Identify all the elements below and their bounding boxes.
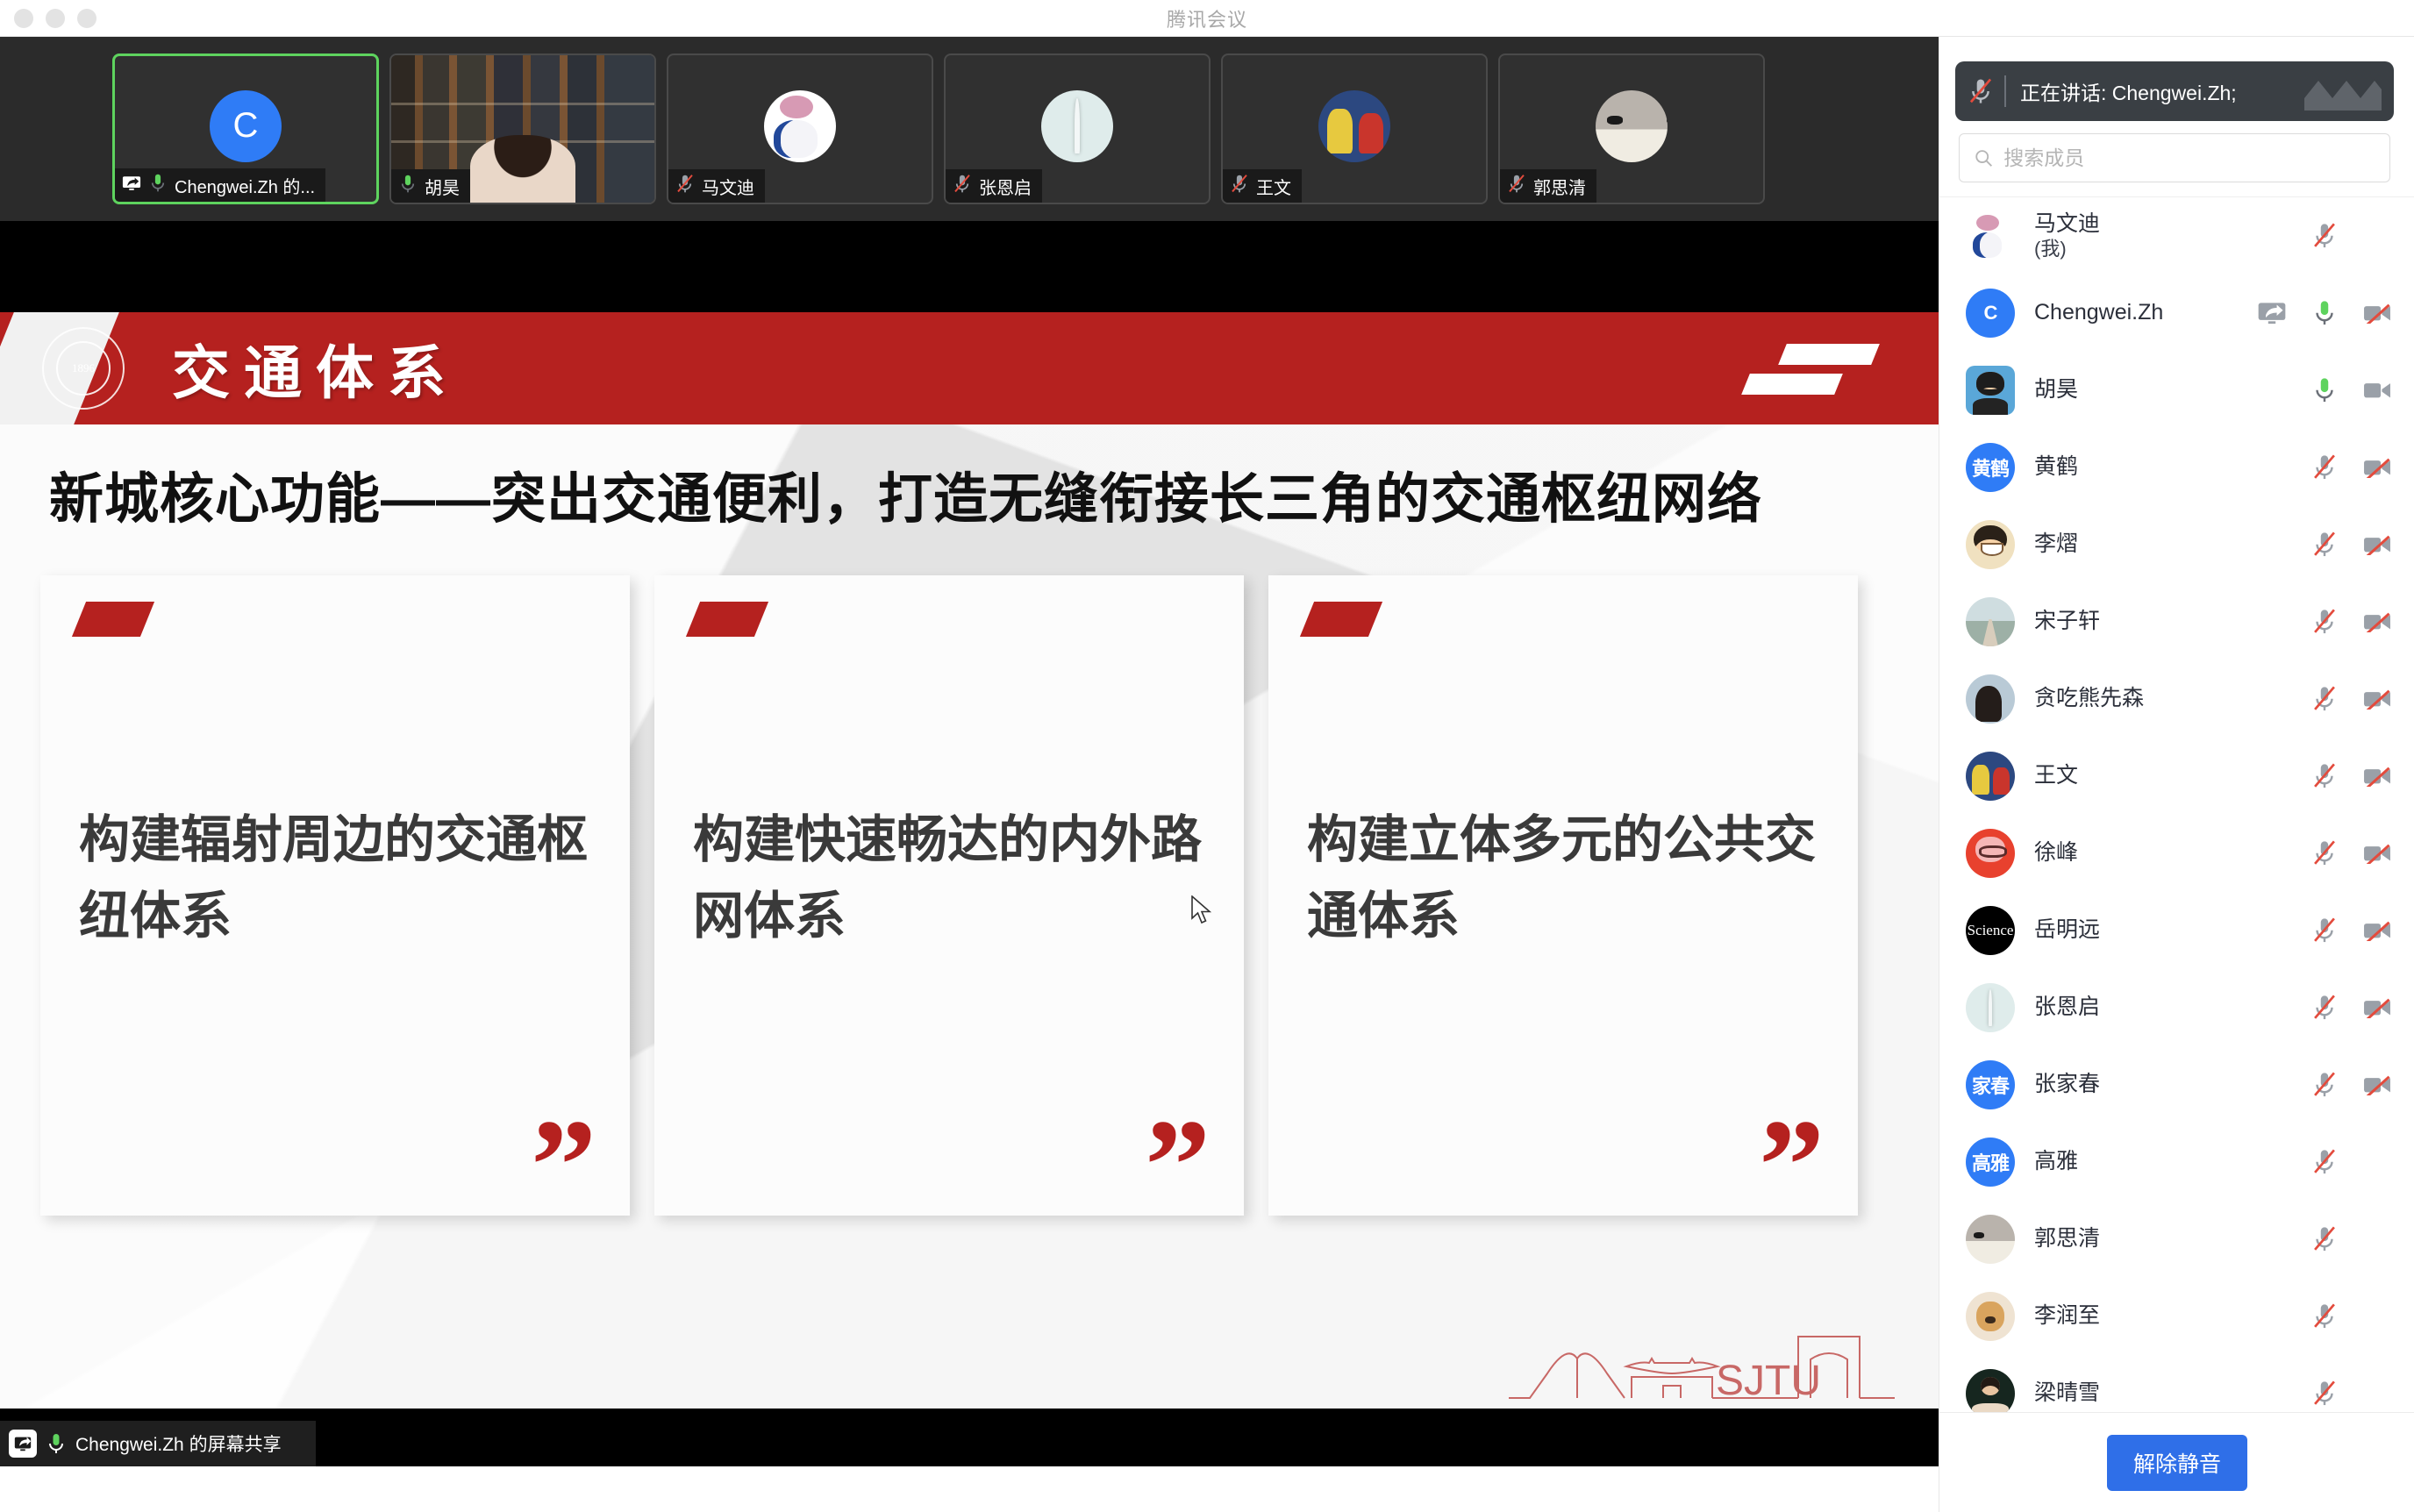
microphone-muted-icon[interactable] [953, 174, 972, 194]
mic-status-slot[interactable] [2310, 916, 2339, 945]
share-status-slot [2257, 993, 2287, 1023]
card-text: 构建辐射周边的交通枢纽体系 [79, 802, 588, 954]
avatar [1966, 1292, 2015, 1341]
share-status-slot [2257, 298, 2287, 328]
participant-name-block: 李熠 [2034, 531, 2238, 558]
participant-name: 梁晴雪 [2034, 1380, 2238, 1407]
share-status-slot [2257, 1302, 2287, 1331]
avatar [1966, 983, 2015, 1032]
camera-status-slot[interactable] [2362, 298, 2392, 328]
share-status-slot [2257, 1070, 2287, 1100]
share-status-slot [2257, 761, 2287, 791]
slide-card-1: 构建辐射周边的交通枢纽体系” [40, 575, 630, 1216]
participant-name-block: 贪吃熊先森 [2034, 686, 2238, 712]
share-status-slot [2257, 1224, 2287, 1254]
participant-row[interactable]: 高雅高雅 [1939, 1123, 2414, 1201]
participant-row[interactable]: 徐峰 [1939, 815, 2414, 892]
avatar [1966, 597, 2015, 646]
participant-name: 徐峰 [2034, 840, 2238, 867]
camera-off-icon[interactable] [2362, 766, 2392, 787]
participant-row[interactable]: 王文 [1939, 738, 2414, 815]
camera-off-icon[interactable] [2362, 534, 2392, 555]
microphone-muted-icon[interactable] [2311, 839, 2338, 867]
microphone-muted-icon[interactable] [2311, 994, 2338, 1022]
tile-participant-name: 张恩启 [979, 174, 1032, 199]
camera-status-slot[interactable] [2362, 453, 2392, 482]
participant-status-icons [2257, 375, 2392, 405]
tile-namebar: 胡昊 [391, 169, 470, 203]
participant-status-icons [2257, 993, 2392, 1023]
camera-status-slot[interactable] [2362, 607, 2392, 637]
avatar [1966, 1215, 2015, 1264]
participant-name: 王文 [2034, 763, 2238, 789]
slide-subtitle: 新城核心功能——突出交通便利，打造无缝衔接长三角的交通枢纽网络 [49, 454, 1874, 533]
share-status-slot [2257, 530, 2287, 560]
screen-share-icon[interactable] [2257, 302, 2287, 325]
microphone-on-icon[interactable] [2311, 299, 2338, 327]
mic-status-slot[interactable] [2310, 298, 2339, 328]
microphone-on-icon [46, 1432, 67, 1455]
share-status-slot [2257, 838, 2287, 868]
participant-status-icons [2257, 1302, 2392, 1331]
audio-wave-icon [2301, 72, 2382, 111]
camera-status-slot[interactable] [2362, 838, 2392, 868]
share-status-slot [2257, 221, 2287, 251]
tile-namebar: Chengwei.Zh 的... [115, 168, 325, 202]
mic-status-slot[interactable] [2310, 530, 2339, 560]
slide-card-3: 构建立体多元的公共交通体系” [1268, 575, 1858, 1216]
participant-name: 李润至 [2034, 1303, 2238, 1330]
mic-status-slot[interactable] [2310, 684, 2339, 714]
participant-status-icons [2257, 684, 2392, 714]
participant-name: 岳明远 [2034, 917, 2238, 944]
share-status-bar: Chengwei.Zh 的屏幕共享 [0, 1421, 316, 1466]
microphone-muted-icon[interactable] [2311, 531, 2338, 559]
toast-divider [2004, 75, 2006, 107]
microphone-muted-icon[interactable] [2311, 762, 2338, 790]
participant-status-icons [2257, 298, 2392, 328]
tile-namebar: 马文迪 [668, 169, 765, 203]
participant-sublabel: (我) [2034, 238, 2238, 260]
microphone-muted-icon[interactable] [2311, 608, 2338, 636]
participant-row[interactable]: 梁晴雪 [1939, 1355, 2414, 1412]
tile-participant-name: 胡昊 [425, 174, 460, 199]
card-red-mark-icon [686, 602, 768, 637]
microphone-on-icon[interactable] [398, 174, 418, 194]
tile-participant-name: Chengwei.Zh 的... [175, 173, 315, 198]
card-quote-glyph: ” [1145, 1130, 1211, 1202]
card-red-mark-icon [72, 602, 154, 637]
mic-status-slot[interactable] [2310, 1147, 2339, 1177]
tile-mic-icon [148, 173, 168, 197]
video-tile-3[interactable]: 马文迪 [667, 53, 933, 204]
participant-name: 马文迪 [2034, 211, 2238, 238]
camera-off-icon[interactable] [2362, 303, 2392, 324]
participant-name: 宋子轩 [2034, 609, 2238, 635]
avatar: C [210, 90, 282, 162]
avatar: Science [1966, 906, 2015, 955]
participant-row[interactable]: Science岳明远 [1939, 892, 2414, 969]
participant-status-icons [2257, 761, 2392, 791]
participant-row[interactable]: 贪吃熊先森 [1939, 660, 2414, 738]
participant-name-block: 徐峰 [2034, 840, 2238, 867]
card-text: 构建立体多元的公共交通体系 [1307, 802, 1816, 954]
avatar: C [1966, 289, 2015, 338]
card-quote-glyph: ” [1759, 1130, 1825, 1202]
camera-off-icon[interactable] [2362, 457, 2392, 478]
mic-status-slot[interactable] [2310, 375, 2339, 405]
tile-mic-icon [1507, 174, 1526, 198]
participant-name-block: 张恩启 [2034, 995, 2238, 1021]
slide-card-group: 构建辐射周边的交通枢纽体系”构建快速畅达的内外路网体系”构建立体多元的公共交通体… [40, 575, 1858, 1216]
participant-name: 高雅 [2034, 1149, 2238, 1175]
microphone-muted-icon [1968, 77, 1994, 105]
participant-status-icons [2257, 1224, 2392, 1254]
camera-status-slot[interactable] [2362, 1070, 2392, 1100]
tile-mic-icon [675, 174, 695, 198]
slide-header-banner: 1896 交通体系 [0, 312, 1939, 424]
share-status-slot [2257, 916, 2287, 945]
camera-off-icon[interactable] [2362, 843, 2392, 864]
participant-row[interactable]: CChengwei.Zh [1939, 275, 2414, 352]
camera-status-slot[interactable] [2362, 1302, 2392, 1331]
microphone-muted-icon[interactable] [2311, 1380, 2338, 1408]
participant-name-block: 李润至 [2034, 1303, 2238, 1330]
banner-stripe-decoration [1746, 344, 1875, 395]
participant-name: 张恩启 [2034, 995, 2238, 1021]
video-tile-1[interactable]: CChengwei.Zh 的... [112, 53, 379, 204]
participant-name-block: 胡昊 [2034, 377, 2238, 403]
mic-status-slot[interactable] [2310, 993, 2339, 1023]
speaking-now-text: 正在讲话: Chengwei.Zh; [2020, 76, 2237, 106]
camera-status-slot[interactable] [2362, 221, 2392, 251]
participant-status-icons [2257, 838, 2392, 868]
avatar [1966, 520, 2015, 569]
mic-status-slot[interactable] [2310, 607, 2339, 637]
card-text: 构建快速畅达的内外路网体系 [693, 802, 1202, 954]
participant-name: 黄鹤 [2034, 454, 2238, 481]
mic-status-slot[interactable] [2310, 1302, 2339, 1331]
sjtu-seal-year: 1896 [56, 341, 111, 396]
tile-namebar: 郭思清 [1500, 169, 1596, 203]
mic-status-slot[interactable] [2310, 221, 2339, 251]
speaking-now-toast: 正在讲话: Chengwei.Zh; [1955, 61, 2394, 121]
camera-status-slot[interactable] [2362, 1379, 2392, 1409]
participant-status-icons [2257, 1070, 2392, 1100]
tile-participant-name: 王文 [1256, 174, 1291, 199]
video-tile-4[interactable]: 张恩启 [944, 53, 1211, 204]
avatar [764, 90, 836, 162]
sjtu-skyline-logo-icon: SJTU [1509, 1310, 1895, 1403]
microphone-muted-icon[interactable] [2311, 1302, 2338, 1330]
search-box[interactable] [1959, 133, 2390, 182]
camera-on-icon[interactable] [2362, 380, 2392, 401]
tile-namebar: 王文 [1223, 169, 1302, 203]
slide-card-2: 构建快速畅达的内外路网体系” [654, 575, 1244, 1216]
avatar [1966, 674, 2015, 724]
microphone-muted-icon[interactable] [1507, 174, 1526, 194]
share-status-slot [2257, 1147, 2287, 1177]
shared-screen-area: 1896 交通体系 新城核心功能——突出交通便利，打造无缝衔接长三角的交通枢纽网… [0, 221, 1939, 1466]
participant-status-icons [2257, 916, 2392, 945]
microphone-muted-icon[interactable] [1230, 174, 1249, 194]
participant-name: 李熠 [2034, 531, 2238, 558]
participant-row[interactable]: 张恩启 [1939, 969, 2414, 1046]
participant-status-icons [2257, 607, 2392, 637]
avatar: 家春 [1966, 1060, 2015, 1109]
participant-name: 贪吃熊先森 [2034, 686, 2238, 712]
video-tile-2[interactable]: 胡昊 [389, 53, 656, 204]
card-quote-glyph: ” [531, 1130, 596, 1202]
participant-status-icons [2257, 221, 2392, 251]
participant-row[interactable]: 李熠 [1939, 506, 2414, 583]
microphone-muted-icon[interactable] [2311, 1148, 2338, 1176]
participant-name-block: 黄鹤 [2034, 454, 2238, 481]
avatar [1966, 752, 2015, 801]
video-filmstrip: CChengwei.Zh 的...胡昊马文迪张恩启王文郭思清 [0, 37, 1939, 221]
screen-share-icon [9, 1430, 37, 1458]
mic-status-slot[interactable] [2310, 1070, 2339, 1100]
search-input[interactable] [2003, 146, 2375, 170]
camera-off-icon[interactable] [2362, 688, 2392, 710]
presentation-slide: 1896 交通体系 新城核心功能——突出交通便利，打造无缝衔接长三角的交通枢纽网… [0, 312, 1939, 1409]
tile-share-icon [122, 175, 141, 196]
avatar [1966, 211, 2015, 260]
participant-name-block: 张家春 [2034, 1072, 2238, 1098]
microphone-muted-icon[interactable] [2311, 685, 2338, 713]
microphone-muted-icon[interactable] [2311, 1225, 2338, 1253]
mic-status-slot[interactable] [2310, 1224, 2339, 1254]
tile-mic-icon [953, 174, 972, 198]
avatar: 黄鹤 [1966, 443, 2015, 492]
camera-status-slot[interactable] [2362, 993, 2392, 1023]
participant-row[interactable]: 家春张家春 [1939, 1046, 2414, 1123]
camera-status-slot[interactable] [2362, 684, 2392, 714]
tile-namebar: 张恩启 [946, 169, 1042, 203]
participant-name-block: 郭思清 [2034, 1226, 2238, 1252]
camera-status-slot[interactable] [2362, 1147, 2392, 1177]
microphone-muted-icon[interactable] [2311, 916, 2338, 945]
microphone-muted-icon[interactable] [2311, 453, 2338, 481]
avatar [1041, 90, 1113, 162]
camera-off-icon[interactable] [2362, 611, 2392, 632]
window-title: 腾讯会议 [0, 4, 2414, 32]
mic-status-slot[interactable] [2310, 453, 2339, 482]
tencent-meeting-window: 腾讯会议 CChengwei.Zh 的...胡昊马文迪张恩启王文郭思清 1896… [0, 0, 2414, 1512]
participant-search [1959, 133, 2390, 182]
share-status-slot [2257, 1379, 2287, 1409]
share-status-slot [2257, 375, 2287, 405]
sjtu-logo-text: SJTU [1716, 1358, 1821, 1403]
share-status-slot [2257, 684, 2287, 714]
participant-row[interactable]: 黄鹤黄鹤 [1939, 429, 2414, 506]
tile-mic-icon [1230, 174, 1249, 198]
slide-band-title: 交通体系 [172, 330, 460, 407]
mic-status-slot[interactable] [2310, 761, 2339, 791]
unmute-button[interactable]: 解除静音 [2107, 1435, 2247, 1491]
tile-participant-name: 郭思清 [1533, 174, 1586, 199]
microphone-on-icon[interactable] [148, 173, 168, 193]
microphone-on-icon[interactable] [2311, 376, 2338, 404]
participant-row[interactable]: 李润至 [1939, 1278, 2414, 1355]
mic-status-slot[interactable] [2310, 838, 2339, 868]
camera-status-slot[interactable] [2362, 375, 2392, 405]
camera-status-slot[interactable] [2362, 916, 2392, 945]
camera-off-icon[interactable] [2362, 1074, 2392, 1095]
participant-name-block: 王文 [2034, 763, 2238, 789]
participant-row[interactable]: 马文迪(我) [1939, 197, 2414, 275]
microphone-muted-icon[interactable] [2311, 222, 2338, 250]
share-status-slot [2257, 607, 2287, 637]
window-titlebar: 腾讯会议 [0, 0, 2414, 37]
participant-name-block: Chengwei.Zh [2034, 300, 2238, 326]
share-status-text: Chengwei.Zh 的屏幕共享 [75, 1430, 282, 1457]
avatar: 高雅 [1966, 1138, 2015, 1187]
mouse-cursor-icon [1190, 895, 1213, 925]
participant-status-icons [2257, 1147, 2392, 1177]
participant-status-icons [2257, 1379, 2392, 1409]
participant-name: 胡昊 [2034, 377, 2238, 403]
participant-row[interactable]: 胡昊 [1939, 352, 2414, 429]
video-tile-5[interactable]: 王文 [1221, 53, 1488, 204]
participant-name-block: 马文迪(我) [2034, 211, 2238, 260]
camera-status-slot[interactable] [2362, 530, 2392, 560]
search-icon [1974, 147, 1993, 168]
avatar [1318, 90, 1390, 162]
sjtu-seal-icon: 1896 [42, 327, 125, 410]
participant-status-icons [2257, 530, 2392, 560]
camera-status-slot[interactable] [2362, 1224, 2392, 1254]
camera-off-icon[interactable] [2362, 920, 2392, 941]
participant-name: Chengwei.Zh [2034, 300, 2238, 326]
participant-name: 郭思清 [2034, 1226, 2238, 1252]
avatar [1966, 829, 2015, 878]
participant-row[interactable]: 宋子轩 [1939, 583, 2414, 660]
participant-name-block: 宋子轩 [2034, 609, 2238, 635]
participant-name-block: 岳明远 [2034, 917, 2238, 944]
panel-footer: 解除静音 [1939, 1412, 2414, 1512]
mic-status-slot[interactable] [2310, 1379, 2339, 1409]
participant-row[interactable]: 郭思清 [1939, 1201, 2414, 1278]
camera-off-icon[interactable] [2362, 997, 2392, 1018]
tile-mic-icon [398, 174, 418, 198]
avatar [1596, 90, 1668, 162]
participant-list[interactable]: 马文迪(我)CChengwei.Zh胡昊黄鹤黄鹤李熠宋子轩贪吃熊先森王文徐峰Sc… [1939, 196, 2414, 1412]
microphone-muted-icon[interactable] [675, 174, 695, 194]
participant-name: 张家春 [2034, 1072, 2238, 1098]
tile-participant-name: 马文迪 [702, 174, 754, 199]
participant-status-icons [2257, 453, 2392, 482]
share-status-slot [2257, 453, 2287, 482]
participant-name-block: 高雅 [2034, 1149, 2238, 1175]
camera-status-slot[interactable] [2362, 761, 2392, 791]
microphone-muted-icon[interactable] [2311, 1071, 2338, 1099]
avatar [1966, 366, 2015, 415]
participant-name-block: 梁晴雪 [2034, 1380, 2238, 1407]
participants-panel: 正在讲话: Chengwei.Zh; 马文迪(我)CChengwei.Zh胡昊黄… [1939, 37, 2414, 1512]
card-red-mark-icon [1300, 602, 1382, 637]
avatar [1966, 1369, 2015, 1412]
video-tile-6[interactable]: 郭思清 [1498, 53, 1765, 204]
